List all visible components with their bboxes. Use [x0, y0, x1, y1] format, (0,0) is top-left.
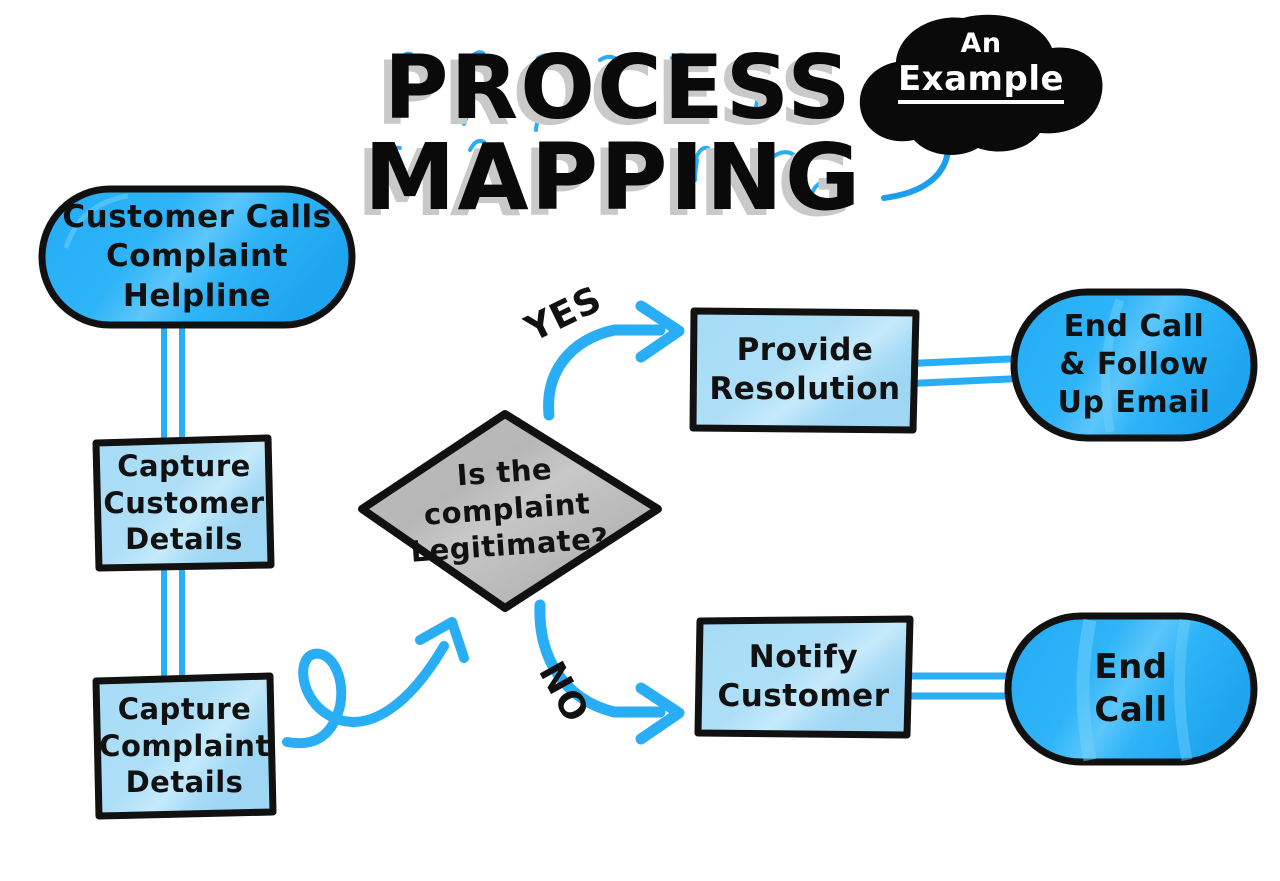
connector-notify-customer-to-end-call: [898, 676, 1022, 696]
connector-capture-customer-to-capture-complaint: [164, 558, 182, 692]
callout-an-example: An Example: [856, 10, 1106, 160]
arrow-yes: [549, 306, 679, 415]
callout-text: An Example: [856, 28, 1106, 104]
connector-provide-resolution-to-end-call-email: [900, 358, 1030, 384]
node-provide-resolution[interactable]: [693, 311, 916, 430]
page-title: PROCESS PROCESS MAPPING MAPPING: [352, 18, 912, 238]
node-customer-calls[interactable]: [42, 189, 352, 325]
node-end-call[interactable]: [1008, 616, 1254, 762]
connector-customer-calls-to-capture-customer: [164, 318, 182, 452]
callout-line1: An: [856, 28, 1106, 59]
diagram-canvas: PROCESS PROCESS MAPPING MAPPING An Examp…: [0, 0, 1280, 881]
node-end-call-follow-up-email[interactable]: [1014, 292, 1254, 438]
callout-line2: Example: [898, 59, 1064, 104]
node-capture-complaint-details[interactable]: [96, 676, 273, 816]
title-line2: MAPPING: [364, 124, 862, 231]
node-notify-customer[interactable]: [698, 619, 910, 735]
node-capture-customer-details[interactable]: [96, 438, 271, 568]
arrow-no: [540, 605, 679, 739]
node-is-complaint-legitimate[interactable]: [362, 414, 658, 608]
arrow-loop-to-decision: [287, 622, 464, 743]
